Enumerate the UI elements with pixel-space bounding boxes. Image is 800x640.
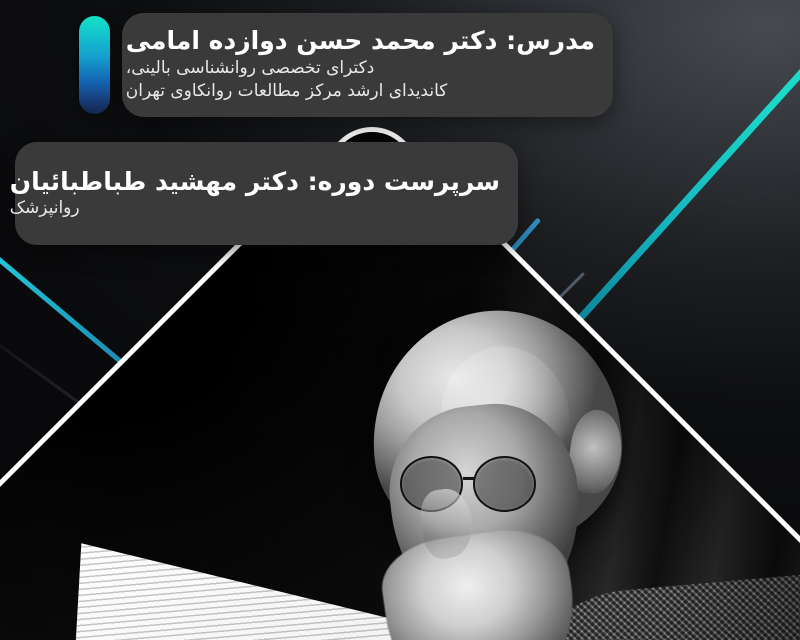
supervisor-card: سرپرست دوره: دکتر مهشید طباطبائیان روانپ… [15, 142, 518, 245]
lecturer-accent-bar [79, 16, 110, 114]
supervisor-card-text: سرپرست دوره: دکتر مهشید طباطبائیان روانپ… [0, 142, 518, 245]
lecturer-subtitle-line-1: دکترای تخصصی روانشناسی بالینی، [126, 57, 375, 80]
supervisor-subtitle-line-1: روانپزشک [10, 197, 80, 220]
lecturer-card-text: مدرس: دکتر محمد حسن دوازده امامی دکترای … [110, 13, 613, 117]
poster-canvas: مدرس: دکتر محمد حسن دوازده امامی دکترای … [0, 0, 800, 640]
lecturer-title: مدرس: دکتر محمد حسن دوازده امامی [126, 26, 595, 57]
lecturer-card: مدرس: دکتر محمد حسن دوازده امامی دکترای … [122, 13, 613, 117]
supervisor-title: سرپرست دوره: دکتر مهشید طباطبائیان [10, 167, 500, 198]
lecturer-subtitle-line-2: کاندیدای ارشد مرکز مطالعات روانکاوی تهرا… [126, 80, 448, 103]
